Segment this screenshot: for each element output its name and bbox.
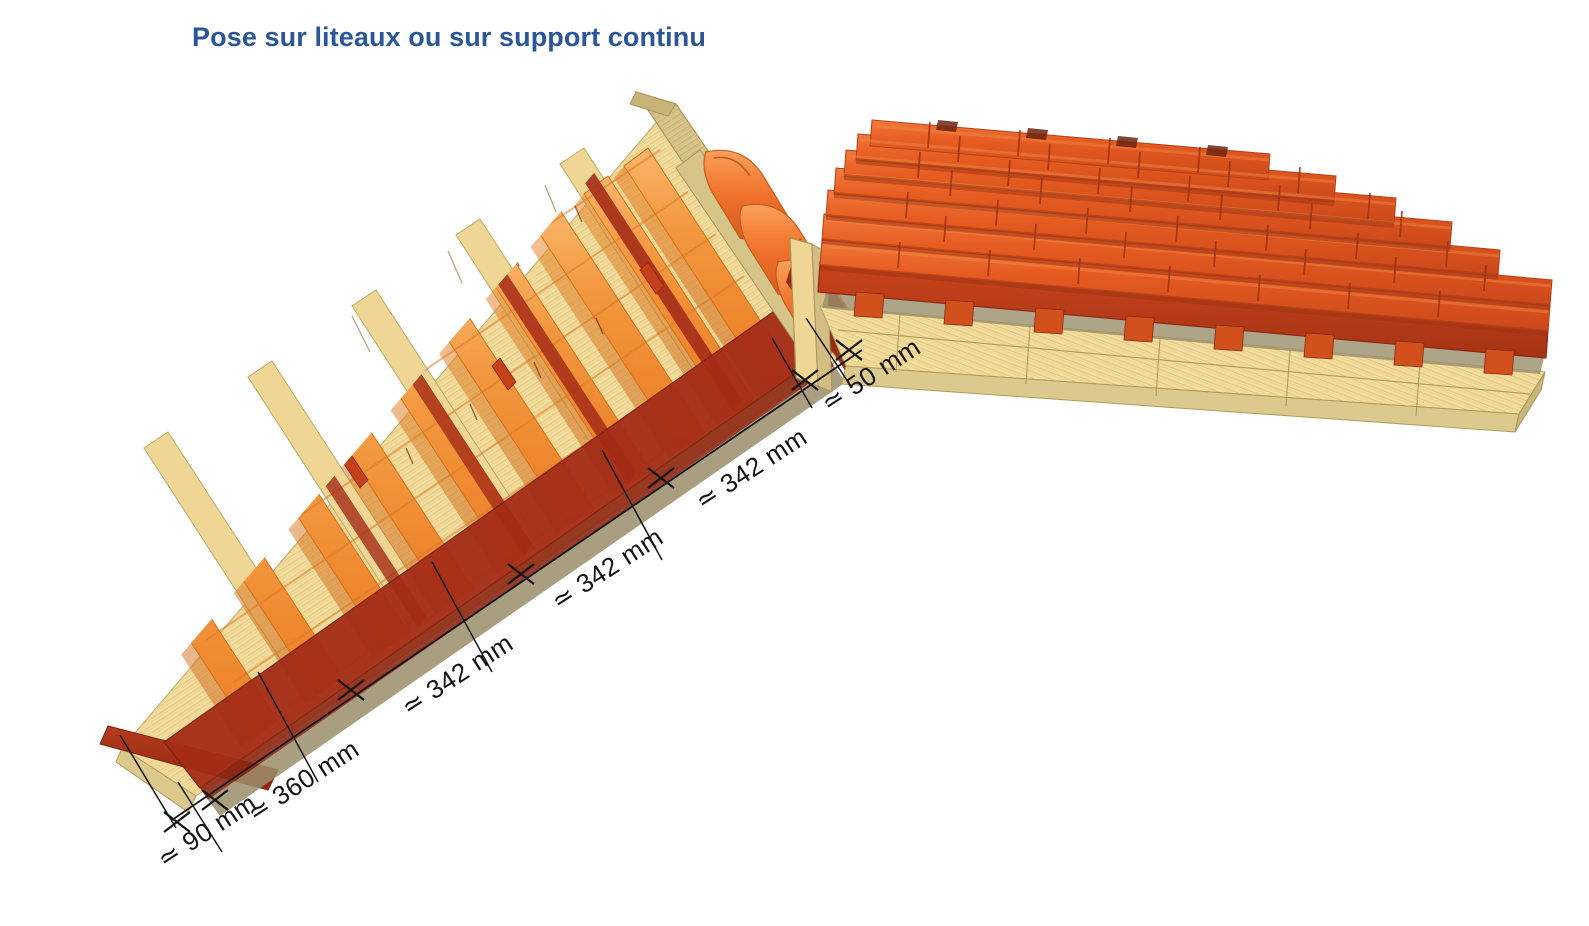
right-slope-assembly <box>818 120 1552 432</box>
roof-illustration <box>0 0 1589 926</box>
illustration-page: Pose sur liteaux ou sur support continu <box>0 0 1589 926</box>
